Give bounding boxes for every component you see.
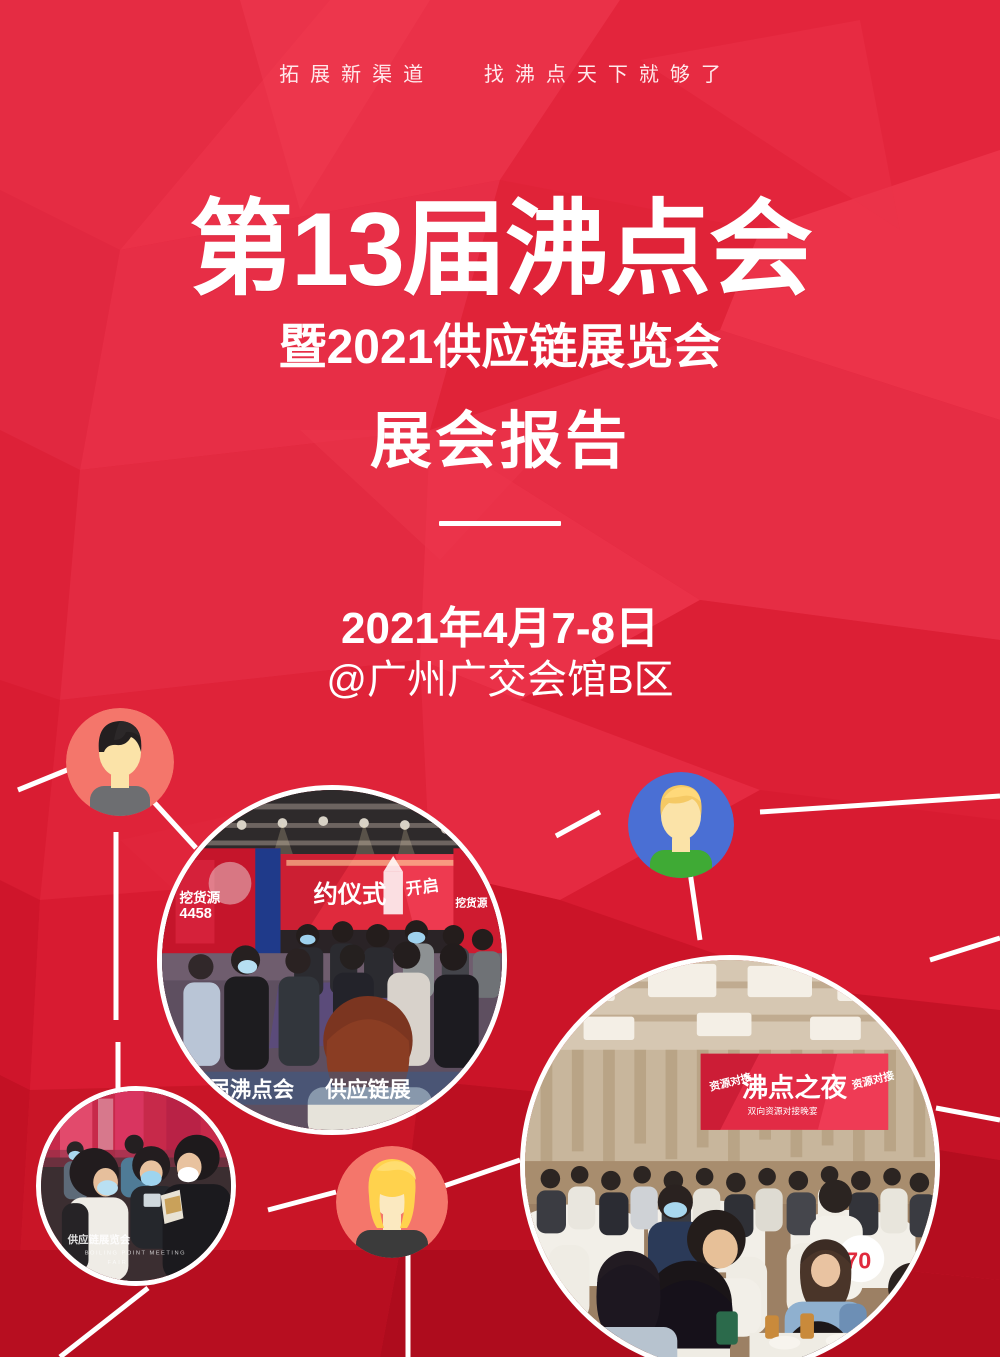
avatar-top-right bbox=[628, 772, 734, 878]
photo-expo-hall: 约仪式 开启 挖货源 4458 挖货源 bbox=[157, 785, 507, 1135]
svg-text:沸点之夜: 沸点之夜 bbox=[742, 1073, 848, 1103]
svg-text:双向资源对接晚宴: 双向资源对接晚宴 bbox=[748, 1105, 818, 1116]
photo-attendees: 供应链展览会 BOILING POINT MEETING FAIR bbox=[36, 1086, 236, 1286]
svg-text:FAIR: FAIR bbox=[108, 1260, 128, 1266]
svg-text:挖货源: 挖货源 bbox=[455, 897, 487, 910]
avatar-top-left bbox=[66, 708, 174, 816]
svg-text:供应链展览会: 供应链展览会 bbox=[67, 1233, 131, 1246]
exhibition-report-poster: 拓展新渠道 找沸点天下就够了 第13届沸点会 暨2021供应链展览会 展会报告 … bbox=[0, 0, 1000, 1357]
svg-text:约仪式: 约仪式 bbox=[314, 881, 387, 909]
svg-text:BOILING POINT MEETING: BOILING POINT MEETING bbox=[85, 1250, 186, 1256]
svg-text:挖货源: 挖货源 bbox=[179, 890, 220, 906]
svg-text:4458: 4458 bbox=[179, 906, 211, 922]
svg-text:供应链展: 供应链展 bbox=[324, 1077, 411, 1102]
photo-gala-dinner: 沸点之夜 双向资源对接晚宴 资源对接 资源对接 bbox=[520, 955, 940, 1357]
avatar-bottom-center bbox=[336, 1146, 448, 1258]
